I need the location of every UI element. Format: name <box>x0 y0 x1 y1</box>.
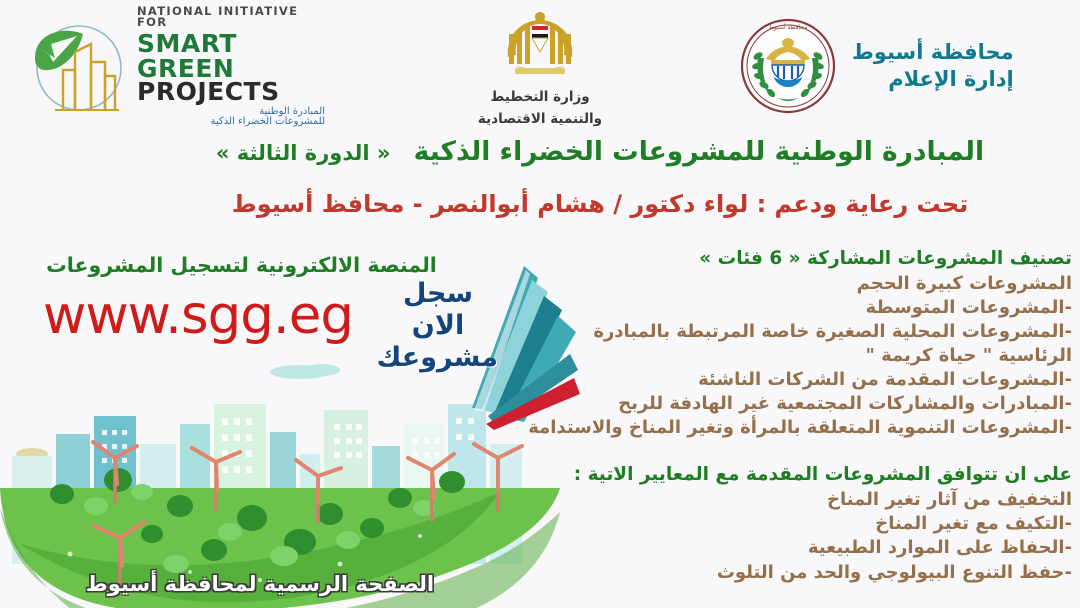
brand-arabic-1: المبادرة الوطنية <box>137 107 325 117</box>
list-item: -الحفاظ على الموارد الطبيعية <box>512 536 1072 560</box>
poster: NATIONAL INITIATIVE FOR SMART GREEN PROJ… <box>0 0 1080 608</box>
list-item: -التكيف مع تغير المناخ <box>512 512 1072 536</box>
cta-line-1: سجل الان <box>378 278 498 342</box>
list-item: -المشروعات التنموية المتعلقة بالمرأة وتغ… <box>512 416 1072 440</box>
smart-green-projects-logo: NATIONAL INITIATIVE FOR SMART GREEN PROJ… <box>25 14 325 118</box>
assiut-governorate-seal-icon: محافظة أسيوط <box>738 16 838 116</box>
register-now-callout: سجل الان مشروعك <box>378 278 498 374</box>
criteria-list: التخفيف من آثار تغير المناخ -التكيف مع ت… <box>512 488 1072 585</box>
brand-arabic-2: للمشروعات الخضراء الذكية <box>137 117 325 127</box>
brand-wordmark: NATIONAL INITIATIVE FOR SMART GREEN PROJ… <box>137 6 325 127</box>
list-item: -المشروعات المقدمة من الشركات الناشئة <box>512 368 1072 392</box>
brand-line-2: SMART GREEN <box>137 31 325 81</box>
list-item: الرئاسية " حياة كريمة " <box>512 344 1072 368</box>
ministry-block: وزارة التخطيط والتنمية الاقتصادية <box>455 8 625 126</box>
governorate-text: محافظة أسيوط إدارة الإعلام <box>852 39 1014 94</box>
categories-section: تصنيف المشروعات المشاركة « 6 فئات » المش… <box>512 247 1072 440</box>
svg-text:محافظة أسيوط: محافظة أسيوط <box>769 23 808 31</box>
list-item: المشروعات كبيرة الحجم <box>512 272 1072 296</box>
egypt-eagle-emblem-icon <box>485 8 595 82</box>
categories-heading: تصنيف المشروعات المشاركة « 6 فئات » <box>512 247 1072 272</box>
criteria-heading: على ان تتوافق المشروعات المقدمة مع المعا… <box>512 462 1072 488</box>
list-item: -المشروعات المحلية الصغيرة خاصة المرتبطة… <box>512 320 1072 344</box>
list-item: التخفيف من آثار تغير المناخ <box>512 488 1072 512</box>
ministry-line-1: وزارة التخطيط <box>455 88 625 108</box>
brand-line-1: NATIONAL INITIATIVE FOR <box>137 6 325 29</box>
title-main-text: المبادرة الوطنية للمشروعات الخضراء الذكي… <box>414 136 984 167</box>
brand-line-3: PROJECTS <box>137 79 325 104</box>
patronage-line: تحت رعاية ودعم : لواء دكتور / هشام أبوال… <box>150 190 1050 218</box>
list-item: -حفظ التنوع البيولوجي والحد من التلوث <box>512 561 1072 585</box>
leaf-buildings-circle-logo-icon <box>25 14 129 118</box>
official-page-note: الصفحة الرسمية لمحافظة أسيوط <box>0 572 520 596</box>
categories-list: المشروعات كبيرة الحجم -المشروعات المتوسط… <box>512 272 1072 440</box>
list-item: -المبادرات والمشاركات المجتمعية غير الها… <box>512 392 1072 416</box>
ministry-line-2: والتنمية الاقتصادية <box>455 110 625 130</box>
registration-url[interactable]: www.sgg.eg <box>18 285 378 346</box>
title-round-text: « الدورة الثالثة » <box>216 141 391 165</box>
governorate-line-2: إدارة الإعلام <box>852 66 1014 93</box>
platform-label: المنصة الالكترونية لتسجيل المشروعات <box>18 253 465 277</box>
governorate-block: محافظة أسيوط إدارة الإعلام <box>738 12 1068 120</box>
list-item: -المشروعات المتوسطة <box>512 296 1072 320</box>
page-title: المبادرة الوطنية للمشروعات الخضراء الذكي… <box>150 136 1050 167</box>
poster-header: NATIONAL INITIATIVE FOR SMART GREEN PROJ… <box>0 0 1080 128</box>
criteria-section: على ان تتوافق المشروعات المقدمة مع المعا… <box>512 462 1072 585</box>
governorate-line-1: محافظة أسيوط <box>852 39 1014 66</box>
cta-line-2: مشروعك <box>378 342 498 374</box>
